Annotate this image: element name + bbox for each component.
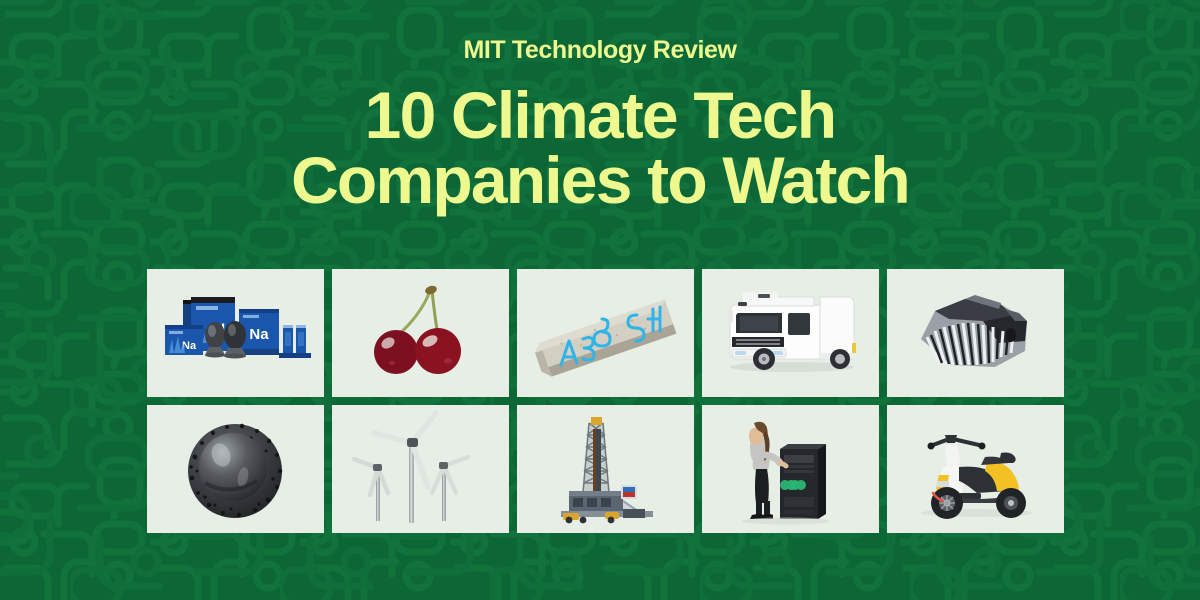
- grid-tile-person-at-equipment-cabinet: [702, 405, 879, 533]
- headline-line-1: 10 Climate Tech: [365, 78, 836, 152]
- publication-name: MIT Technology Review: [0, 38, 1200, 63]
- grid-tile-wind-turbines: [332, 405, 509, 533]
- grid-tile-metal-sphere-in-granules: [147, 405, 324, 533]
- grid-tile-electric-scooter: [887, 405, 1064, 533]
- grid-tile-sodium-battery-products: Na Na Na: [147, 269, 324, 397]
- grid-tile-mineral-ore-specimen: [887, 269, 1064, 397]
- poster-canvas: MIT Technology Review 10 Climate Tech Co…: [0, 0, 1200, 600]
- headline-line-2: Companies to Watch: [0, 148, 1200, 213]
- grid-tile-electric-semi-truck: [702, 269, 879, 397]
- svg-text:Na: Na: [249, 326, 269, 343]
- poster-header: MIT Technology Review 10 Climate Tech Co…: [0, 0, 1200, 214]
- page-title: 10 Climate Tech Companies to Watch: [0, 83, 1200, 214]
- grid-tile-drilling-rig: [517, 405, 694, 533]
- grid-tile-concrete-block: [517, 269, 694, 397]
- company-image-grid: Na Na Na: [147, 269, 1053, 533]
- grid-tile-cherries: [332, 269, 509, 397]
